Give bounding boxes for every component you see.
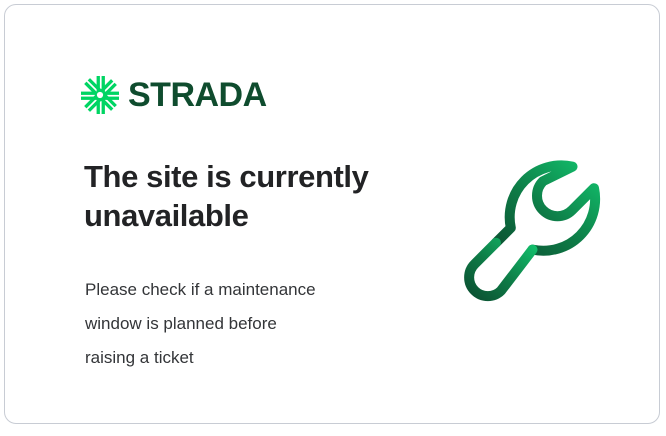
wrench-icon xyxy=(460,153,620,313)
status-card: STRADA The site is currently unavailable… xyxy=(4,4,660,424)
description-line: raising a ticket xyxy=(85,341,405,375)
status-description: Please check if a maintenance window is … xyxy=(85,273,405,375)
description-line: Please check if a maintenance xyxy=(85,273,405,307)
page-root: STRADA The site is currently unavailable… xyxy=(0,0,666,436)
brand-logo: STRADA xyxy=(81,75,267,115)
page-title: The site is currently unavailable xyxy=(84,157,434,235)
brand-wordmark: STRADA xyxy=(128,78,267,112)
strada-asterisk-icon xyxy=(81,76,119,114)
description-line: window is planned before xyxy=(85,307,405,341)
